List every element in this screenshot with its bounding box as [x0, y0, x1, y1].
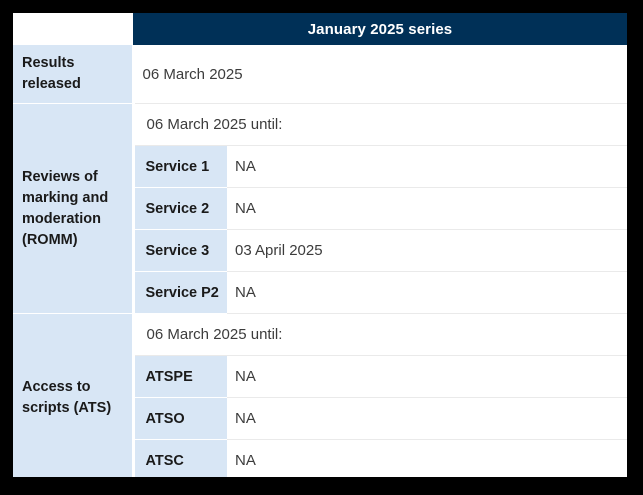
- cell-ats-atsc-date: NA: [227, 440, 627, 477]
- cell-romm-service-2-date: NA: [227, 188, 627, 230]
- cell-romm-service-p2-date: NA: [227, 272, 627, 314]
- row-label-romm: Reviews of marking and moderation (ROMM): [13, 104, 133, 314]
- row-label-results-released: Results released: [13, 45, 133, 104]
- sublabel-romm-service-2: Service 2: [133, 188, 227, 230]
- table-row-romm-until: Reviews of marking and moderation (ROMM)…: [13, 104, 627, 146]
- schedule-card: January 2025 series Results released 06 …: [13, 13, 627, 477]
- header-spacer-cell: [13, 13, 133, 45]
- table-header-row: January 2025 series: [13, 13, 627, 45]
- sublabel-ats-atsc: ATSC: [133, 440, 227, 477]
- sublabel-romm-service-3: Service 3: [133, 230, 227, 272]
- results-schedule-table: January 2025 series Results released 06 …: [13, 13, 627, 477]
- cell-romm-until: 06 March 2025 until:: [133, 104, 627, 146]
- table-row-results-released: Results released 06 March 2025: [13, 45, 627, 104]
- cell-ats-until: 06 March 2025 until:: [133, 314, 627, 356]
- sublabel-ats-atso: ATSO: [133, 398, 227, 440]
- cell-ats-atso-date: NA: [227, 398, 627, 440]
- cell-romm-service-3-date: 03 April 2025: [227, 230, 627, 272]
- series-title: January 2025 series: [133, 13, 627, 45]
- cell-romm-service-1-date: NA: [227, 146, 627, 188]
- table-row-ats-until: Access to scripts (ATS) 06 March 2025 un…: [13, 314, 627, 356]
- sublabel-ats-atspe: ATSPE: [133, 356, 227, 398]
- sublabel-romm-service-p2: Service P2: [133, 272, 227, 314]
- cell-ats-atspe-date: NA: [227, 356, 627, 398]
- row-label-ats: Access to scripts (ATS): [13, 314, 133, 477]
- sublabel-romm-service-1: Service 1: [133, 146, 227, 188]
- cell-results-released-date: 06 March 2025: [133, 45, 627, 104]
